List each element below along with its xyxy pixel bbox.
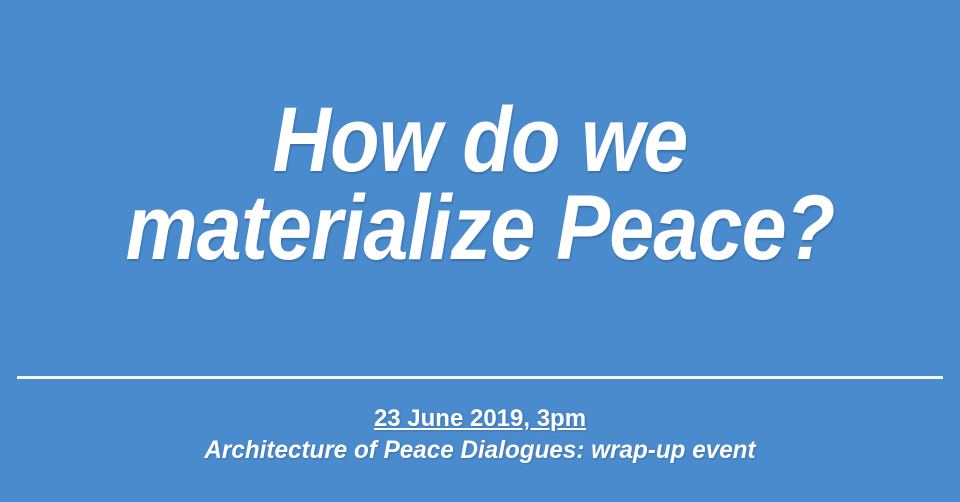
title-line-2: materialize Peace?	[58, 184, 903, 272]
title-line-1: How do we	[58, 96, 903, 184]
event-subtitle: Architecture of Peace Dialogues: wrap-up…	[14, 434, 945, 466]
event-date: 23 June 2019, 3pm	[0, 404, 960, 434]
slide-footer: 23 June 2019, 3pm Architecture of Peace …	[0, 404, 960, 466]
horizontal-divider	[17, 376, 943, 379]
presentation-slide: How do we materialize Peace? 23 June 201…	[0, 0, 960, 502]
slide-title: How do we materialize Peace?	[0, 96, 960, 272]
